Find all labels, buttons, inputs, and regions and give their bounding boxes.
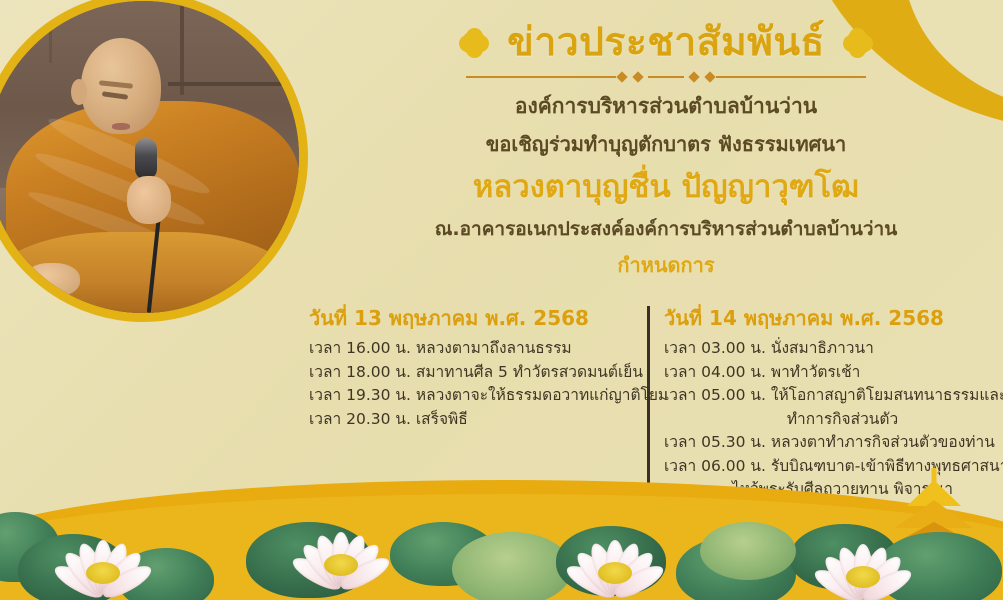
- list-item: เวลา 19.30 น. หลวงตาจะให้ธรรมดอวาทแก่ญาต…: [309, 384, 633, 408]
- wall-seam: [49, 1, 52, 63]
- lotus-flower: [48, 516, 158, 594]
- quatrefoil-ornament-left-icon: [459, 28, 489, 58]
- schedule-day1-date: วันที่ 13 พฤษภาคม พ.ศ. 2568: [309, 306, 633, 330]
- list-item: เวลา 03.00 น. นั่งสมาธิภาวนา: [664, 337, 981, 361]
- list-item: เวลา 05.30 น. หลวงตาทำภารกิจส่วนตัวของท่…: [664, 431, 981, 455]
- invitation-line: ขอเชิญร่วมทำบุญตักบาตร ฟังธรรมเทศนา: [330, 130, 1002, 159]
- quatrefoil-ornament-right-icon: [843, 28, 873, 58]
- venue-line: ณ.อาคารอเนกประสงค์องค์การบริหารส่วนตำบลบ…: [330, 216, 1002, 244]
- monk-resting-hand: [24, 263, 80, 297]
- monk-mouth: [112, 123, 130, 130]
- schedule-day1-items: เวลา 16.00 น. หลวงตามาถึงลานธรรม เวลา 18…: [309, 337, 633, 431]
- schedule-day2-date: วันที่ 14 พฤษภาคม พ.ศ. 2568: [664, 306, 981, 330]
- schedule-heading: กำหนดการ: [330, 249, 1002, 281]
- list-item: เวลา 18.00 น. สมาทานศีล 5 ทำวัตรสวดมนต์เ…: [309, 361, 633, 385]
- microphone-icon: [135, 138, 157, 180]
- monk-portrait-image: [0, 1, 299, 313]
- lotus-flower: [560, 516, 670, 594]
- header-block: ข่าวประชาสัมพันธ์ องค์การบริหารส่วนตำบลบ…: [330, 22, 1002, 281]
- monk-name: หลวงตาบุญชื่น ปัญญาวุฑโฒ: [330, 167, 1002, 207]
- list-item: เวลา 16.00 น. หลวงตามาถึงลานธรรม: [309, 337, 633, 361]
- title-row: ข่าวประชาสัมพันธ์: [330, 22, 1002, 65]
- list-item: เวลา 05.00 น. ให้โอกาสญาติโยมสนทนาธรรมแล…: [664, 384, 981, 408]
- lotus-flower: [808, 520, 918, 598]
- list-item: เวลา 20.30 น. เสร็จพิธี: [309, 408, 633, 432]
- wall-seam: [180, 1, 184, 95]
- lotus-flower: [286, 508, 396, 586]
- ornamental-divider: [466, 69, 866, 85]
- wall-seam: [168, 82, 299, 86]
- list-item-continuation: ทำการกิจส่วนตัว: [664, 408, 981, 432]
- lotus-leaf: [452, 532, 572, 600]
- list-item: เวลา 04.00 น. พาทำวัตรเช้า: [664, 361, 981, 385]
- monk-portrait-frame: [0, 0, 308, 322]
- organization-name: องค์การบริหารส่วนตำบลบ้านว่าน: [330, 91, 1002, 121]
- page-title: ข่าวประชาสัมพันธ์: [507, 22, 825, 65]
- poster-canvas: ข่าวประชาสัมพันธ์ องค์การบริหารส่วนตำบลบ…: [0, 0, 1003, 600]
- lotus-leaf: [700, 522, 796, 580]
- monk-hand-holding-mic: [127, 176, 171, 224]
